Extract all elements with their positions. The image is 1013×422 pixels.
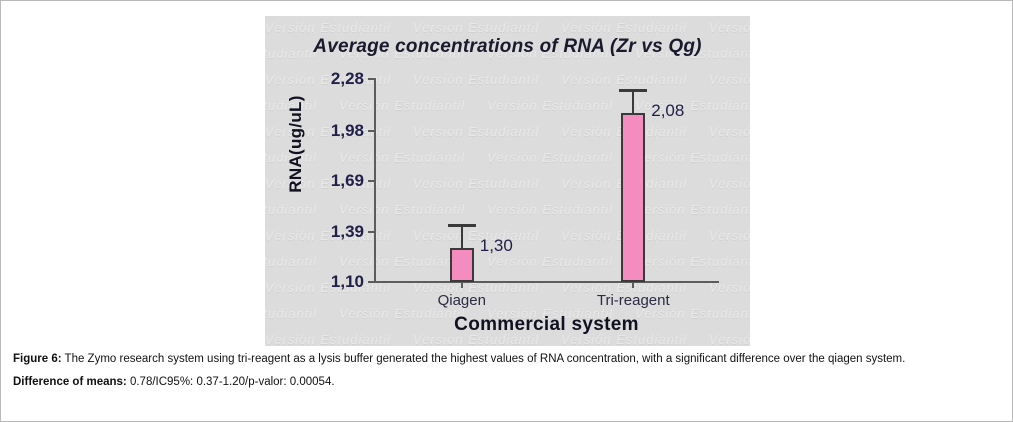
x-tick-label: Tri-reagent [597, 292, 670, 309]
caption-body: The Zymo research system using tri-reage… [62, 353, 906, 365]
caption-line-1: Figure 6: The Zymo research system using… [13, 351, 1001, 368]
figure-caption: Figure 6: The Zymo research system using… [13, 351, 1001, 390]
y-tick-mark [368, 130, 375, 132]
bar-value-label: 2,08 [651, 101, 684, 121]
y-tick-mark [368, 180, 375, 182]
error-bar-cap [619, 89, 647, 92]
y-tick-label: 1,69 [331, 171, 364, 191]
y-tick-label: 1,10 [331, 272, 364, 292]
bar-tri-reagent[interactable] [621, 113, 645, 282]
stats-body: 0.78/IC95%: 0.37-1.20/p-valor: 0.00054. [127, 376, 335, 388]
y-tick-mark [368, 78, 375, 80]
plot-area: 2,281,981,691,391,10 QiagenTri-reagent 1… [265, 16, 750, 346]
y-axis-title: RNA(ug/uL) [286, 69, 306, 219]
x-axis-line [374, 281, 719, 283]
caption-line-2: Difference of means: 0.78/IC95%: 0.37-1.… [13, 374, 1001, 391]
bar-qiagen[interactable] [450, 248, 474, 282]
figure-container: Versión EstudiantilVersión EstudiantilVe… [0, 0, 1013, 422]
y-tick-mark [368, 281, 375, 283]
error-bar-stem [632, 89, 634, 113]
error-bar-cap [448, 224, 476, 227]
y-tick-label: 1,98 [331, 121, 364, 141]
stats-label: Difference of means: [13, 376, 127, 388]
x-axis-title: Commercial system [374, 314, 719, 336]
x-tick-mark [461, 281, 463, 288]
x-tick-mark [632, 281, 634, 288]
bar-value-label: 1,30 [480, 236, 513, 256]
caption-figure-label: Figure 6: [13, 353, 62, 365]
y-tick-label: 2,28 [331, 69, 364, 89]
y-tick-mark [368, 231, 375, 233]
y-tick-label: 1,39 [331, 222, 364, 242]
chart-panel: Versión EstudiantilVersión EstudiantilVe… [265, 16, 750, 346]
x-tick-label: Qiagen [438, 292, 486, 309]
error-bar-stem [461, 224, 463, 248]
